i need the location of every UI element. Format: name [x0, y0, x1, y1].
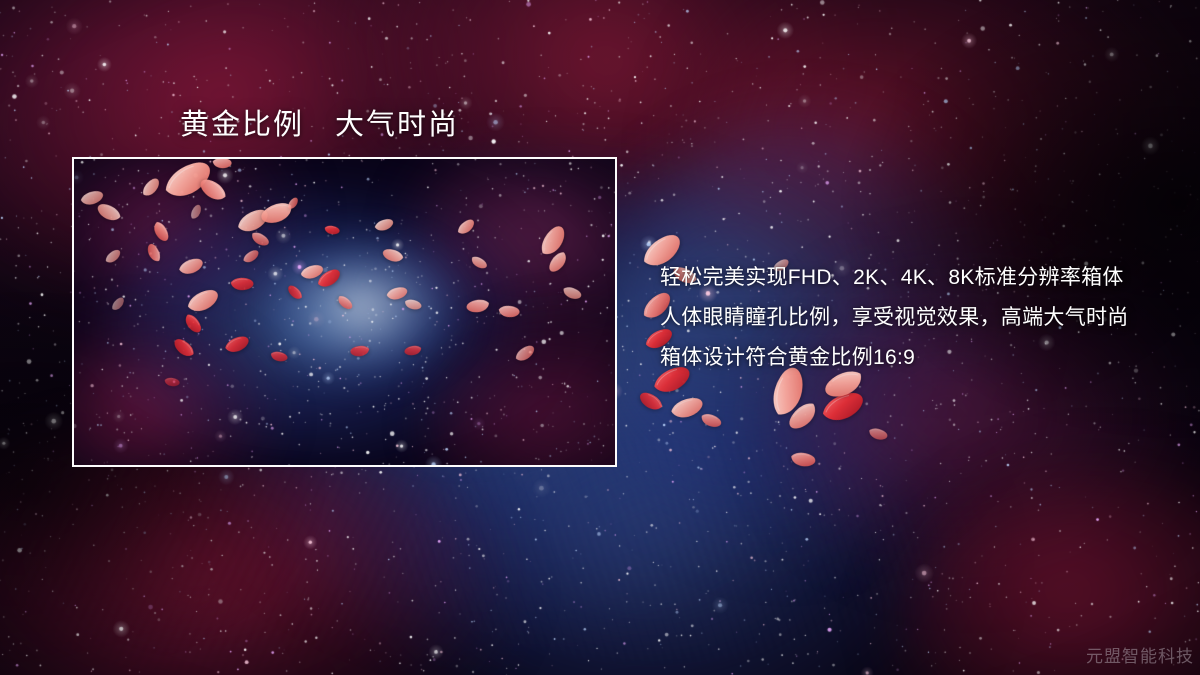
body-text-block: 轻松完美实现FHD、2K、4K、8K标准分辨率箱体 人体眼睛瞳孔比例，享受视觉效…	[660, 258, 1160, 378]
watermark: 元盟智能科技	[1086, 642, 1194, 667]
panel-vignette	[74, 159, 615, 465]
framed-nebula-image[interactable]	[72, 157, 617, 467]
panel-nebula-background	[74, 159, 615, 465]
body-line-2: 人体眼睛瞳孔比例，享受视觉效果，高端大气时尚	[660, 298, 1160, 338]
body-line-1: 轻松完美实现FHD、2K、4K、8K标准分辨率箱体	[660, 258, 1160, 298]
slide-canvas: 黄金比例 大气时尚 轻松完美实现FHD、2K、4K、8K标准分辨率箱体 人体眼睛…	[0, 0, 1200, 675]
page-title: 黄金比例 大气时尚	[180, 101, 459, 143]
body-line-3: 箱体设计符合黄金比例16:9	[660, 338, 1160, 378]
